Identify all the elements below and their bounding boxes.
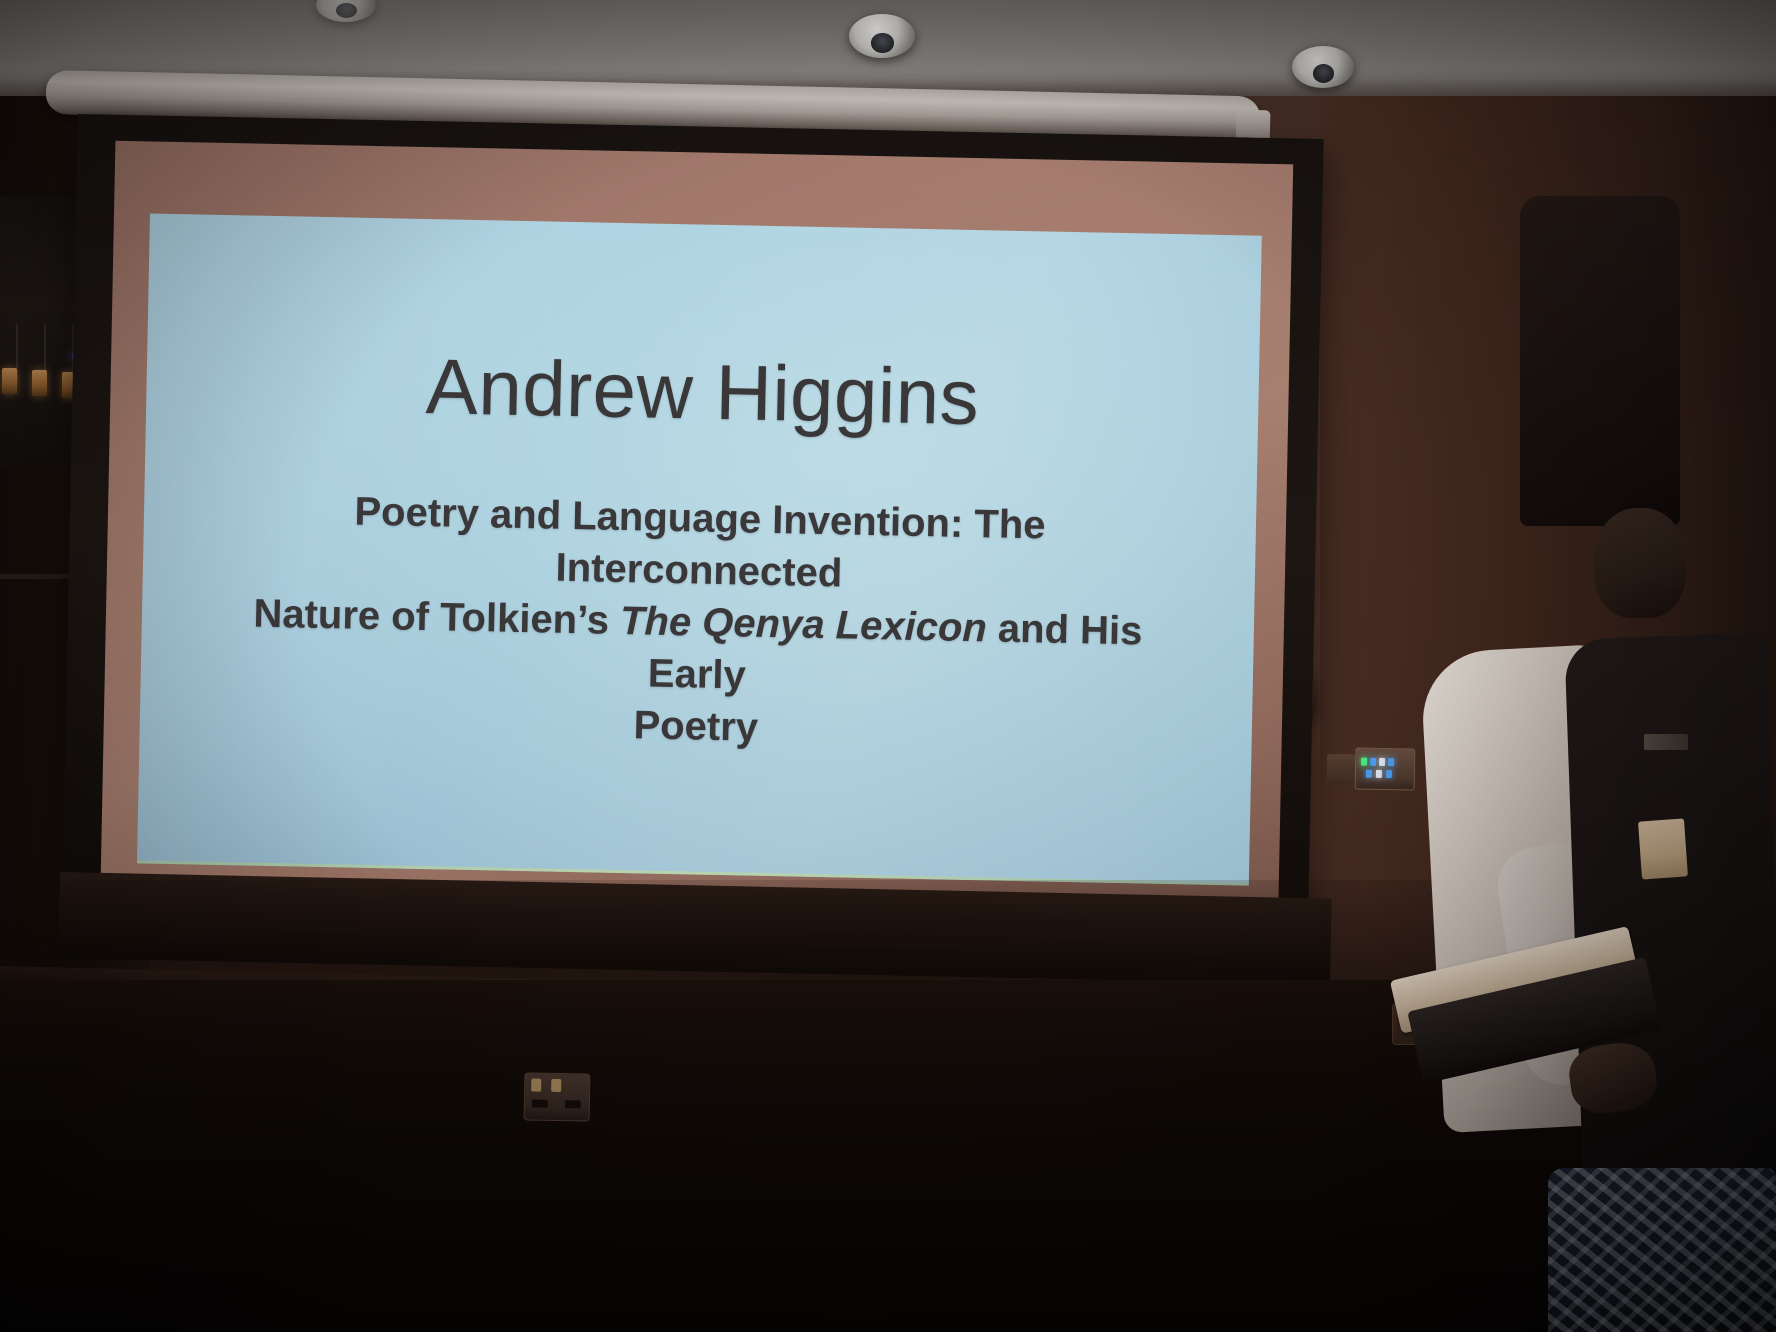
led-white <box>1376 770 1382 778</box>
wall-plate <box>1327 754 1355 784</box>
presenter-vest <box>1564 633 1776 1200</box>
screen-surface: Andrew Higgins Poetry and Language Inven… <box>100 141 1293 930</box>
slide-subtitle-line-1: Poetry and Language Invention: The Inter… <box>354 490 1046 596</box>
power-socket-icon[interactable] <box>524 1072 591 1121</box>
alcove-item <box>2 368 17 394</box>
ceiling-light-lens <box>871 33 893 52</box>
slide-subtitle-book-title: The Qenya Lexicon <box>620 599 988 650</box>
presentation-slide: Andrew Higgins Poetry and Language Inven… <box>137 213 1262 885</box>
ceiling-light-icon <box>1292 46 1354 88</box>
socket-switch[interactable] <box>551 1079 561 1092</box>
socket-outlet <box>532 1100 548 1108</box>
slide-subtitle-line-2-prefix: Nature of Tolkien’s <box>253 592 621 643</box>
slide-subtitle: Poetry and Language Invention: The Inter… <box>231 483 1164 762</box>
ceiling-light-lens <box>1313 64 1334 82</box>
alcove-item <box>32 370 47 396</box>
slide-title: Andrew Higgins <box>146 335 1260 448</box>
presenter <box>1398 520 1776 1332</box>
projection-screen: Andrew Higgins Poetry and Language Inven… <box>61 114 1323 969</box>
led-blue <box>1388 758 1394 766</box>
presenter-skirt <box>1548 1168 1776 1332</box>
led-blue <box>1386 770 1392 778</box>
socket-outlet <box>565 1100 581 1108</box>
led-white <box>1379 758 1385 766</box>
name-badge <box>1638 818 1688 879</box>
room-photo-scene: Andrew Higgins Poetry and Language Inven… <box>0 0 1776 1332</box>
led-blue <box>1366 770 1372 778</box>
led-blue <box>1370 758 1376 766</box>
ceiling-speaker-column <box>1520 196 1680 526</box>
led-green <box>1361 758 1367 766</box>
ceiling-light-lens <box>336 3 356 18</box>
ceiling-light-icon <box>849 14 915 58</box>
vest-logo <box>1644 734 1688 750</box>
slide-subtitle-line-3: Poetry <box>633 703 758 749</box>
presenter-head <box>1594 508 1686 618</box>
socket-switch[interactable] <box>531 1079 541 1092</box>
